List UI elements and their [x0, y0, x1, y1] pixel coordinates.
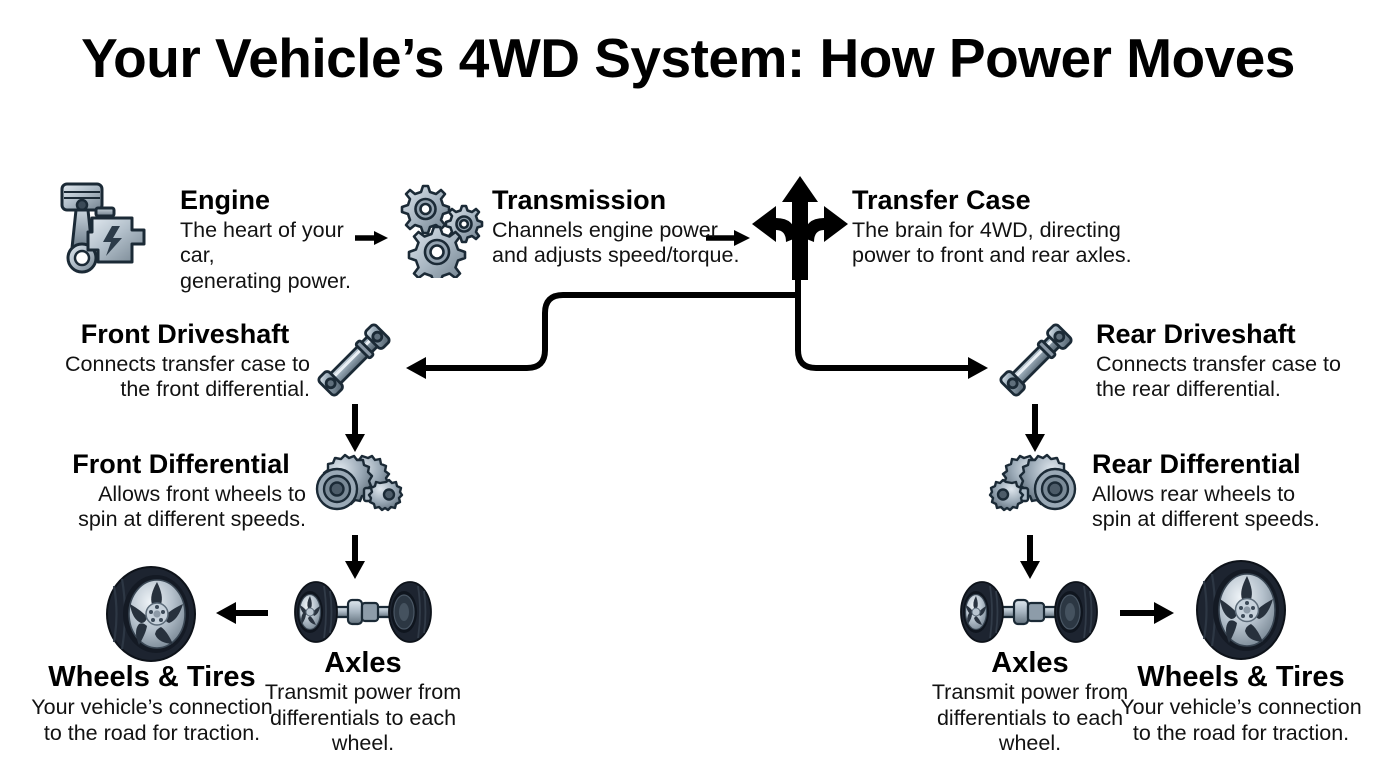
- node-transmission-title: Transmission: [492, 186, 742, 214]
- rear-axle-assembly-icon: [948, 574, 1110, 652]
- node-front-differential-title: Front Differential: [56, 450, 306, 478]
- node-front-axles-title: Axles: [258, 648, 468, 678]
- node-transfer-case-description: The brain for 4WD, directing power to fr…: [852, 218, 1152, 269]
- front-wheel-tire-icon: [92, 566, 210, 662]
- front-axle-assembly-icon: [282, 574, 444, 652]
- node-front-driveshaft-desc-line1: Connects transfer case to: [60, 352, 310, 377]
- node-front-axles-desc-line2: differentials to each: [258, 706, 468, 731]
- node-front-wheels-description: Your vehicle’s connection to the road fo…: [18, 695, 286, 746]
- arrow-front-driveshaft-to-front-differential: [345, 404, 365, 452]
- gears-icon: [392, 182, 492, 278]
- node-rear-wheels-desc-line2: to the road for traction.: [1110, 721, 1372, 746]
- node-rear-driveshaft-desc-line1: Connects transfer case to: [1096, 352, 1356, 377]
- node-transmission-desc-line2: and adjusts speed/torque.: [492, 243, 742, 268]
- rear-wheel-tire-icon: [1182, 560, 1300, 660]
- node-transfer-case-desc-line1: The brain for 4WD, directing: [852, 218, 1152, 243]
- node-front-axles-description: Transmit power from differentials to eac…: [258, 680, 468, 756]
- node-rear-axles-desc-line3: wheel.: [925, 731, 1135, 756]
- rear-driveshaft-icon: [992, 316, 1080, 404]
- node-engine-desc-line1: The heart of your car,: [180, 218, 360, 269]
- node-engine-description: The heart of your car, generating power.: [180, 218, 360, 294]
- node-rear-differential-title: Rear Differential: [1092, 450, 1352, 478]
- node-rear-wheels-description: Your vehicle’s connection to the road fo…: [1110, 695, 1372, 746]
- page-title: Your Vehicle’s 4WD System: How Power Mov…: [0, 26, 1376, 90]
- node-engine-desc-line2: generating power.: [180, 269, 360, 294]
- node-rear-differential-desc-line2: spin at different speeds.: [1092, 507, 1352, 532]
- node-front-wheels-title: Wheels & Tires: [18, 662, 286, 692]
- node-transmission-description: Channels engine power and adjusts speed/…: [492, 218, 742, 269]
- node-transfer-case-desc-line2: power to front and rear axles.: [852, 243, 1152, 268]
- node-front-differential-desc-line2: spin at different speeds.: [56, 507, 306, 532]
- node-front-driveshaft: Front Driveshaft Connects transfer case …: [60, 320, 310, 403]
- infographic-canvas: Your Vehicle’s 4WD System: How Power Mov…: [0, 0, 1376, 768]
- node-front-differential: Front Differential Allows front wheels t…: [56, 450, 306, 533]
- node-rear-axles: Axles Transmit power from differentials …: [925, 648, 1135, 756]
- node-transfer-case: Transfer Case The brain for 4WD, directi…: [852, 186, 1152, 269]
- node-engine: Engine The heart of your car, generating…: [180, 186, 360, 294]
- node-transmission-desc-line1: Channels engine power: [492, 218, 742, 243]
- arrowhead-rear-driveshaft: [968, 357, 988, 379]
- arrow-front-differential-to-front-axles: [345, 535, 365, 579]
- node-engine-title: Engine: [180, 186, 360, 214]
- node-rear-axles-desc-line2: differentials to each: [925, 706, 1135, 731]
- node-front-driveshaft-desc-line2: the front differential.: [60, 377, 310, 402]
- node-rear-wheels-title: Wheels & Tires: [1110, 662, 1372, 692]
- connector-transfer-case-split: [420, 276, 974, 368]
- three-way-split-arrow-icon: [752, 176, 848, 280]
- node-rear-differential-description: Allows rear wheels to spin at different …: [1092, 482, 1352, 533]
- rear-differential-gears-icon: [984, 452, 1090, 538]
- node-front-wheels: Wheels & Tires Your vehicle’s connection…: [18, 662, 286, 746]
- arrow-front-axles-to-front-wheels: [216, 602, 268, 624]
- front-differential-gears-icon: [302, 452, 408, 538]
- node-rear-axles-description: Transmit power from differentials to eac…: [925, 680, 1135, 756]
- node-front-axles-desc-line3: wheel.: [258, 731, 468, 756]
- node-rear-driveshaft-description: Connects transfer case to the rear diffe…: [1096, 352, 1356, 403]
- node-front-wheels-desc-line1: Your vehicle’s connection: [18, 695, 286, 720]
- arrowhead-front-driveshaft: [406, 357, 426, 379]
- node-rear-differential-desc-line1: Allows rear wheels to: [1092, 482, 1352, 507]
- engine-piston-icon: [48, 178, 158, 278]
- node-transmission: Transmission Channels engine power and a…: [492, 186, 742, 269]
- node-transfer-case-title: Transfer Case: [852, 186, 1152, 214]
- node-rear-driveshaft: Rear Driveshaft Connects transfer case t…: [1096, 320, 1356, 403]
- node-rear-driveshaft-desc-line2: the rear differential.: [1096, 377, 1356, 402]
- arrow-rear-axles-to-rear-wheels: [1120, 602, 1174, 624]
- arrow-rear-differential-to-rear-axles: [1020, 535, 1040, 579]
- node-rear-wheels: Wheels & Tires Your vehicle’s connection…: [1110, 662, 1372, 746]
- node-rear-driveshaft-title: Rear Driveshaft: [1096, 320, 1356, 348]
- node-front-axles: Axles Transmit power from differentials …: [258, 648, 468, 756]
- arrow-rear-driveshaft-to-rear-differential: [1025, 404, 1045, 452]
- node-rear-axles-title: Axles: [925, 648, 1135, 678]
- node-front-driveshaft-title: Front Driveshaft: [60, 320, 310, 348]
- node-front-wheels-desc-line2: to the road for traction.: [18, 721, 286, 746]
- node-rear-axles-desc-line1: Transmit power from: [925, 680, 1135, 705]
- node-front-differential-desc-line1: Allows front wheels to: [56, 482, 306, 507]
- front-driveshaft-icon: [310, 316, 398, 404]
- node-front-driveshaft-description: Connects transfer case to the front diff…: [60, 352, 310, 403]
- node-rear-differential: Rear Differential Allows rear wheels to …: [1092, 450, 1352, 533]
- node-front-differential-description: Allows front wheels to spin at different…: [56, 482, 306, 533]
- node-front-axles-desc-line1: Transmit power from: [258, 680, 468, 705]
- node-rear-wheels-desc-line1: Your vehicle’s connection: [1110, 695, 1372, 720]
